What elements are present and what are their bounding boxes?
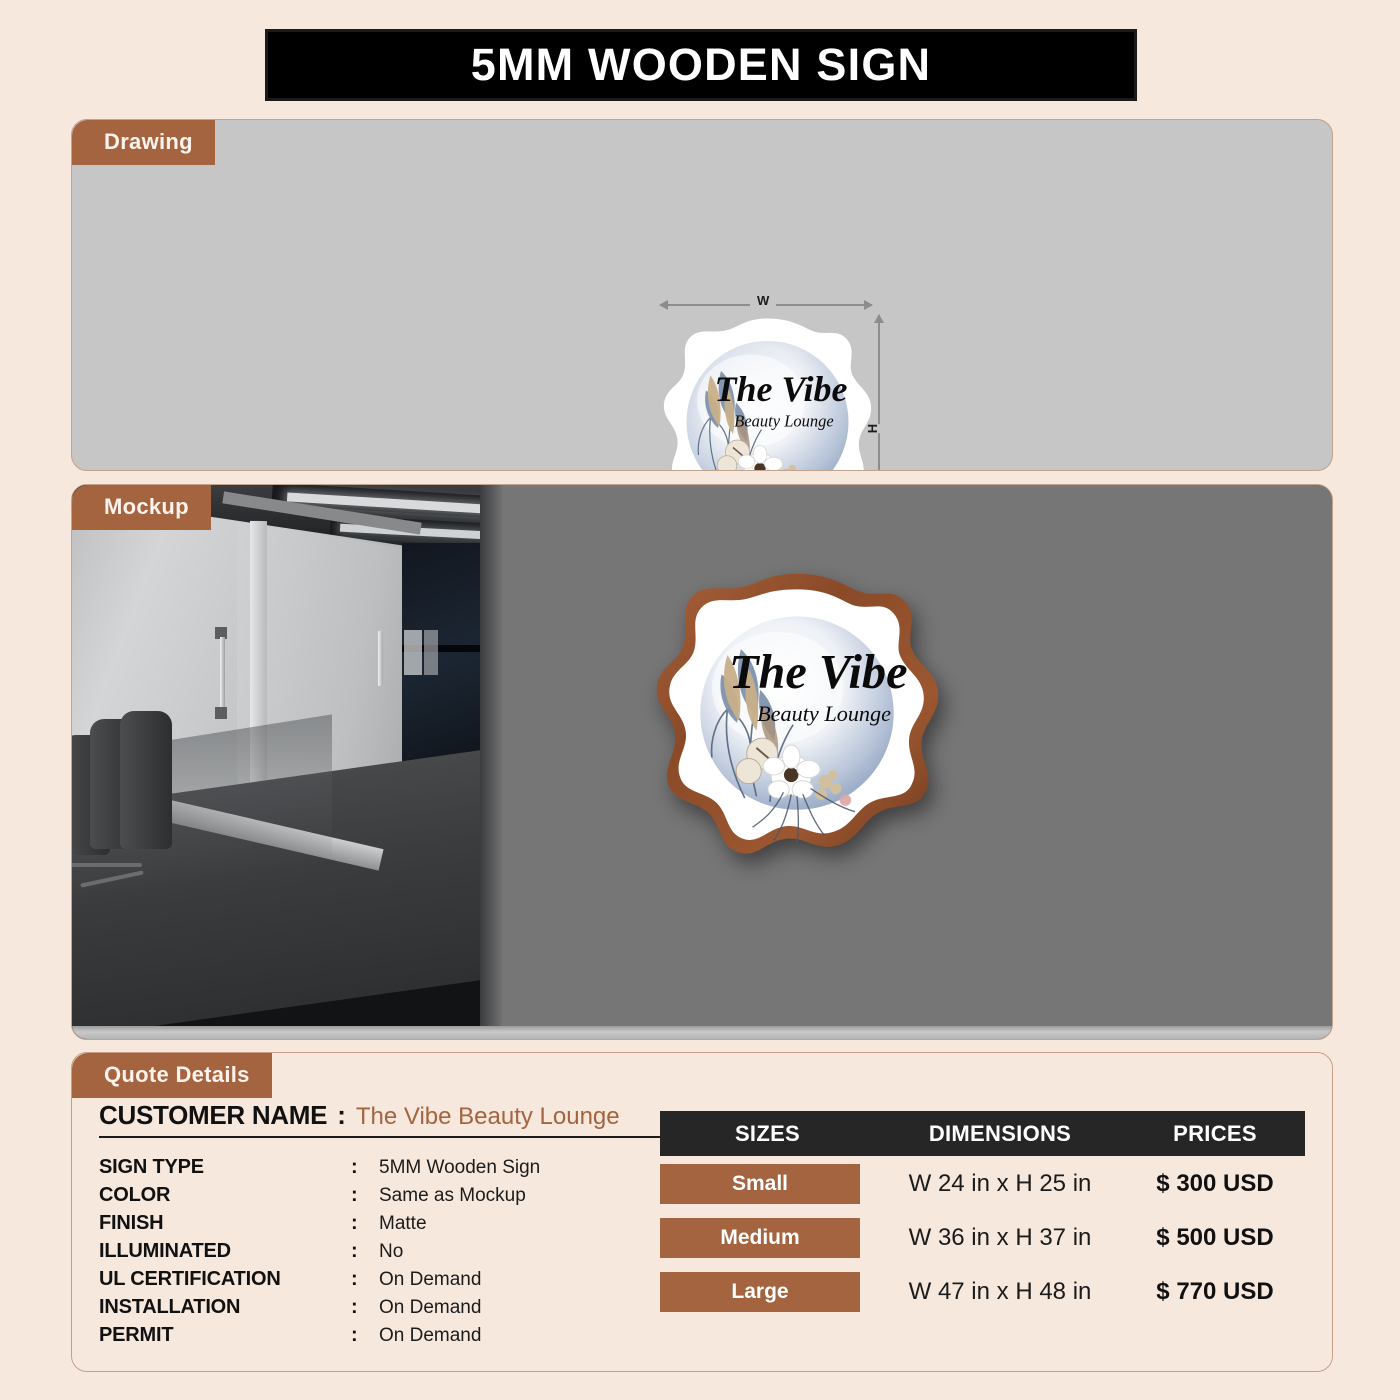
spec-key: SIGN TYPE bbox=[99, 1156, 351, 1179]
column-header-sizes: SIZES bbox=[660, 1121, 875, 1147]
spec-row-finish: FINISH : Matte bbox=[99, 1212, 664, 1240]
size-badge-small: Small bbox=[660, 1164, 860, 1204]
logo-line1: The Vibe bbox=[715, 369, 848, 409]
spec-row-illuminated: ILLUMINATED : No bbox=[99, 1240, 664, 1268]
spec-colon: : bbox=[351, 1324, 379, 1347]
drawing-tab-label: Drawing bbox=[72, 120, 215, 165]
price-value: $ 500 USD bbox=[1125, 1224, 1305, 1252]
spec-value: No bbox=[379, 1241, 403, 1263]
spec-colon: : bbox=[351, 1156, 379, 1179]
spec-row-ul-certification: UL CERTIFICATION : On Demand bbox=[99, 1268, 664, 1296]
spec-key: INSTALLATION bbox=[99, 1296, 351, 1319]
drawing-panel: Drawing W H bbox=[71, 119, 1333, 471]
spec-row-color: COLOR : Same as Mockup bbox=[99, 1184, 664, 1212]
mockup-panel: The Vibe Beauty Lounge Mockup bbox=[71, 484, 1333, 1040]
spec-row-installation: INSTALLATION : On Demand bbox=[99, 1296, 664, 1324]
column-header-dimensions: DIMENSIONS bbox=[875, 1121, 1125, 1147]
quote-details-tab-label: Quote Details bbox=[72, 1053, 272, 1098]
spec-key: ILLUMINATED bbox=[99, 1240, 351, 1263]
spec-key: COLOR bbox=[99, 1184, 351, 1207]
size-badge-large: Large bbox=[660, 1272, 860, 1312]
spec-value: On Demand bbox=[379, 1297, 481, 1319]
spec-key: FINISH bbox=[99, 1212, 351, 1235]
office-interior-photo bbox=[72, 485, 502, 1039]
price-value: $ 770 USD bbox=[1125, 1278, 1305, 1306]
dimensions-value: W 24 in x H 25 in bbox=[875, 1170, 1125, 1198]
dimensions-value: W 36 in x H 37 in bbox=[875, 1224, 1125, 1252]
customer-name-label: CUSTOMER NAME bbox=[99, 1100, 327, 1131]
spec-colon: : bbox=[351, 1240, 379, 1263]
spec-key: PERMIT bbox=[99, 1324, 351, 1347]
spec-key: UL CERTIFICATION bbox=[99, 1268, 351, 1291]
spec-value: Same as Mockup bbox=[379, 1185, 526, 1207]
drawing-logo-artwork: The Vibe Beauty Lounge bbox=[655, 310, 880, 471]
table-row: Small W 24 in x H 25 in $ 300 USD bbox=[660, 1158, 1305, 1210]
spec-value: Matte bbox=[379, 1213, 427, 1235]
spec-row-sign-type: SIGN TYPE : 5MM Wooden Sign bbox=[99, 1156, 664, 1184]
spec-value: On Demand bbox=[379, 1269, 481, 1291]
price-table-header: SIZES DIMENSIONS PRICES bbox=[660, 1111, 1305, 1156]
page-title-banner: 5MM WOODEN SIGN bbox=[265, 29, 1137, 101]
table-row: Medium W 36 in x H 37 in $ 500 USD bbox=[660, 1212, 1305, 1264]
price-table: SIZES DIMENSIONS PRICES Small W 24 in x … bbox=[660, 1111, 1305, 1318]
customer-name-value: The Vibe Beauty Lounge bbox=[356, 1103, 620, 1131]
mockup-logo-line2: Beauty Lounge bbox=[757, 701, 891, 726]
spec-colon: : bbox=[351, 1296, 379, 1319]
column-header-prices: PRICES bbox=[1125, 1121, 1305, 1147]
quote-details-panel: Quote Details CUSTOMER NAME : The Vibe B… bbox=[71, 1052, 1333, 1372]
spec-colon: : bbox=[351, 1184, 379, 1207]
spec-row-permit: PERMIT : On Demand bbox=[99, 1324, 664, 1352]
mockup-tab-label: Mockup bbox=[72, 485, 211, 530]
customer-name-row: CUSTOMER NAME : The Vibe Beauty Lounge bbox=[99, 1100, 664, 1138]
mockup-logo-line1: The Vibe bbox=[729, 646, 908, 699]
spec-value: On Demand bbox=[379, 1325, 481, 1347]
price-value: $ 300 USD bbox=[1125, 1170, 1305, 1198]
size-badge-medium: Medium bbox=[660, 1218, 860, 1258]
mockup-sign-artwork: The Vibe Beauty Lounge bbox=[652, 570, 942, 860]
spec-value: 5MM Wooden Sign bbox=[379, 1157, 540, 1179]
customer-name-colon: : bbox=[337, 1100, 346, 1131]
dimensions-value: W 47 in x H 48 in bbox=[875, 1278, 1125, 1306]
page-title: 5MM WOODEN SIGN bbox=[471, 39, 932, 91]
table-row: Large W 47 in x H 48 in $ 770 USD bbox=[660, 1266, 1305, 1318]
drawing-stage: W H bbox=[72, 120, 1332, 470]
width-dimension-label: W bbox=[750, 293, 776, 308]
mockup-baseboard bbox=[72, 1026, 1332, 1039]
logo-line2: Beauty Lounge bbox=[734, 412, 833, 431]
spec-list: SIGN TYPE : 5MM Wooden Sign COLOR : Same… bbox=[99, 1156, 664, 1352]
spec-colon: : bbox=[351, 1268, 379, 1291]
spec-colon: : bbox=[351, 1212, 379, 1235]
